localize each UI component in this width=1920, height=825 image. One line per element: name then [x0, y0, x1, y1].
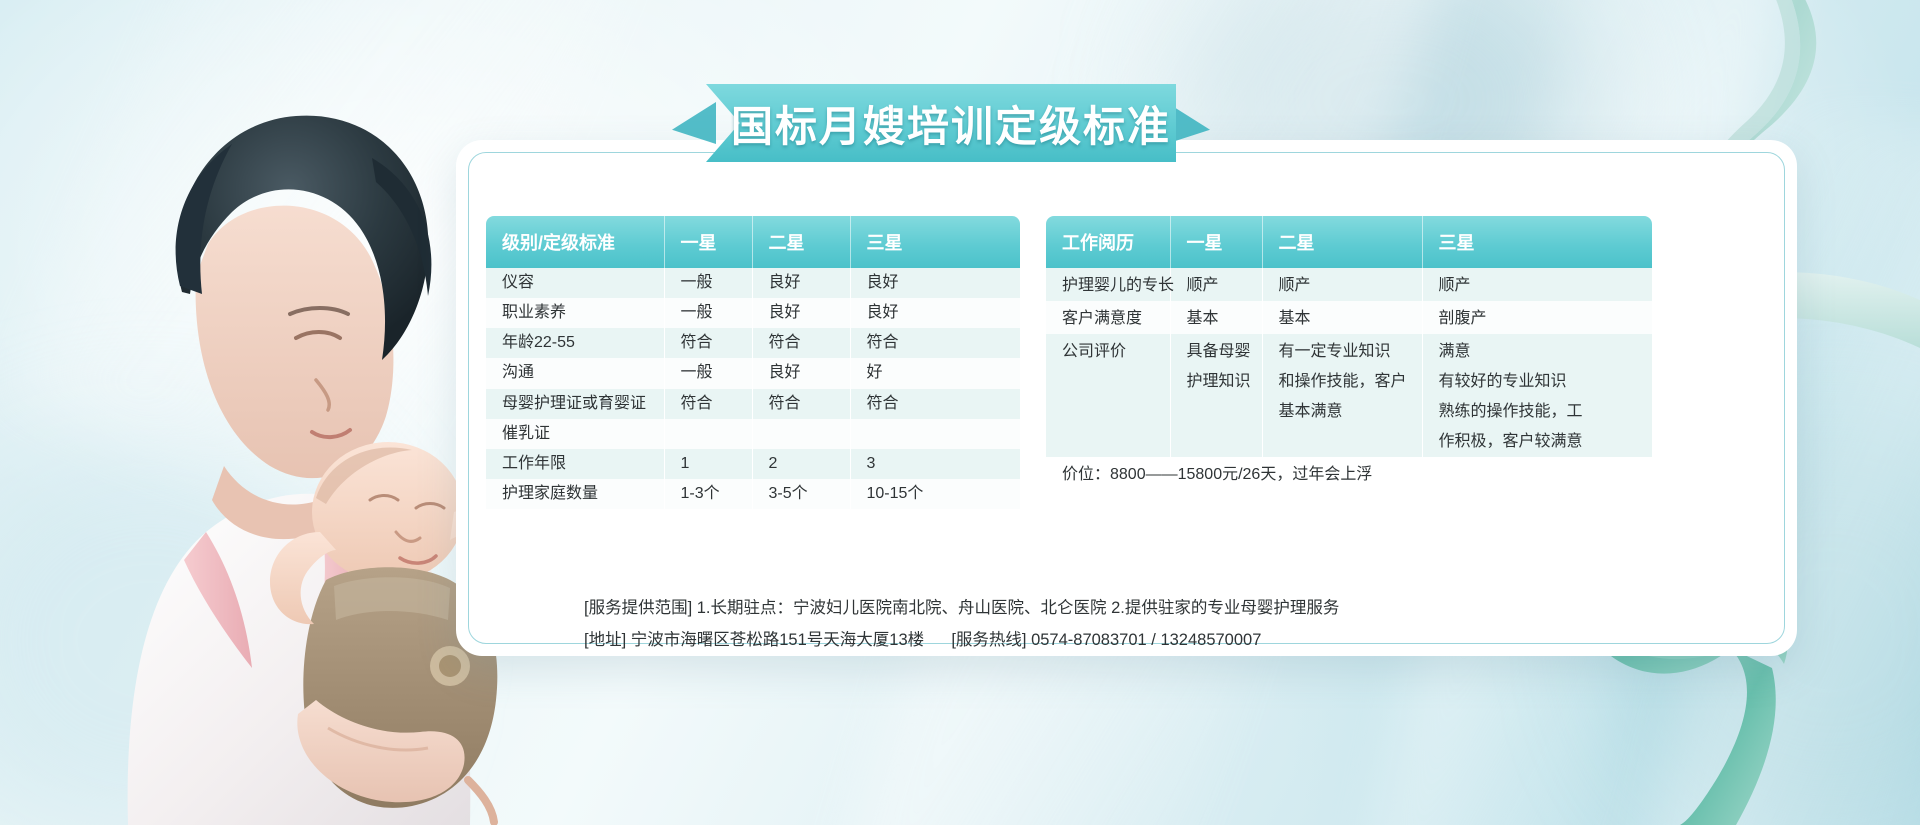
cell-three-star: 良好	[850, 268, 1020, 298]
price-note: 价位：8800——15800元/26天，过年会上浮	[1046, 457, 1652, 509]
cell-one-star: 顺产	[1170, 268, 1262, 301]
cell-two-star: 良好	[752, 268, 850, 298]
table-row: 沟通 一般 良好 好	[486, 358, 1020, 388]
hotline-text: [服务热线] 0574-87083701 / 13248570007	[951, 631, 1261, 649]
cell-experience: 护理婴儿的专长	[1046, 268, 1170, 301]
cell-three-star	[850, 419, 1020, 449]
cell-three-star: 满意 有较好的专业知识 熟练的操作技能，工 作积极，客户较满意	[1422, 334, 1652, 457]
grading-table-body: 仪容 一般 良好 良好 职业素养 一般 良好 良好 年龄22-55 符合 符合 …	[486, 268, 1020, 509]
table-row: 护理婴儿的专长 顺产 顺产 顺产	[1046, 268, 1652, 301]
cell-three-star: 符合	[850, 389, 1020, 419]
cell-one-star: 1-3个	[664, 479, 752, 509]
title-banner: 国标月嫂培训定级标准	[706, 84, 1176, 162]
cell-one-star: 基本	[1170, 301, 1262, 334]
table-header-row: 级别/定级标准 一星 二星 三星	[486, 216, 1020, 268]
cell-one-star: 一般	[664, 298, 752, 328]
table-row: 催乳证	[486, 419, 1020, 449]
service-scope-line: [服务提供范围] 1.长期驻点：宁波妇儿医院南北院、舟山医院、北仑医院 2.提供…	[584, 592, 1704, 624]
price-note-row: 价位：8800——15800元/26天，过年会上浮	[1046, 457, 1652, 509]
cell-two-star: 符合	[752, 389, 850, 419]
cell-three-star: 符合	[850, 328, 1020, 358]
cell-two-star: 顺产	[1262, 268, 1422, 301]
grading-table-head: 级别/定级标准 一星 二星 三星	[486, 216, 1020, 268]
cell-three-star: 10-15个	[850, 479, 1020, 509]
cell-experience: 公司评价	[1046, 334, 1170, 457]
cell-one-star: 一般	[664, 268, 752, 298]
cell-two-star: 有一定专业知识 和操作技能，客户 基本满意	[1262, 334, 1422, 457]
cell-criteria: 仪容	[486, 268, 664, 298]
cell-one-star: 1	[664, 449, 752, 479]
address-text: [地址] 宁波市海曙区苍松路151号天海大厦13楼	[584, 631, 924, 649]
table-row: 母婴护理证或育婴证 符合 符合 符合	[486, 389, 1020, 419]
experience-table-body: 护理婴儿的专长 顺产 顺产 顺产 客户满意度 基本 基本 剖腹产 公司评价 具备…	[1046, 268, 1652, 509]
cell-two-star: 良好	[752, 298, 850, 328]
cell-two-star: 3-5个	[752, 479, 850, 509]
address-hotline-line: [地址] 宁波市海曙区苍松路151号天海大厦13楼 [服务热线] 0574-87…	[584, 624, 1704, 656]
col-header-criteria: 级别/定级标准	[486, 216, 664, 268]
cell-one-star: 一般	[664, 358, 752, 388]
cell-criteria: 沟通	[486, 358, 664, 388]
grading-standard-table: 级别/定级标准 一星 二星 三星 仪容 一般 良好 良好 职业素养 一般 良好	[486, 216, 1020, 509]
table-row: 仪容 一般 良好 良好	[486, 268, 1020, 298]
col-header-three-star: 三星	[1422, 216, 1652, 268]
cell-one-star: 符合	[664, 328, 752, 358]
table-row: 工作年限 1 2 3	[486, 449, 1020, 479]
cell-two-star: 2	[752, 449, 850, 479]
cell-criteria: 催乳证	[486, 419, 664, 449]
col-header-two-star: 二星	[1262, 216, 1422, 268]
poster-stage: 国标月嫂培训定级标准 级别/定级标准 一星 二星 三星 仪容 一般 良好 良好	[0, 0, 1920, 825]
col-header-one-star: 一星	[664, 216, 752, 268]
footer-info: [服务提供范围] 1.长期驻点：宁波妇儿医院南北院、舟山医院、北仑医院 2.提供…	[584, 592, 1704, 656]
table-header-row: 工作阅历 一星 二星 三星	[1046, 216, 1652, 268]
table-row: 公司评价 具备母婴 护理知识 有一定专业知识 和操作技能，客户 基本满意 满意 …	[1046, 334, 1652, 457]
cell-three-star: 良好	[850, 298, 1020, 328]
banner-title: 国标月嫂培训定级标准	[706, 84, 1176, 162]
col-header-one-star: 一星	[1170, 216, 1262, 268]
cell-two-star: 符合	[752, 328, 850, 358]
table-row: 职业素养 一般 良好 良好	[486, 298, 1020, 328]
col-header-experience: 工作阅历	[1046, 216, 1170, 268]
cell-three-star: 剖腹产	[1422, 301, 1652, 334]
col-header-two-star: 二星	[752, 216, 850, 268]
cell-criteria: 母婴护理证或育婴证	[486, 389, 664, 419]
cell-one-star: 具备母婴 护理知识	[1170, 334, 1262, 457]
table-row: 年龄22-55 符合 符合 符合	[486, 328, 1020, 358]
table-row: 护理家庭数量 1-3个 3-5个 10-15个	[486, 479, 1020, 509]
cell-one-star: 符合	[664, 389, 752, 419]
cell-three-star: 3	[850, 449, 1020, 479]
cell-criteria: 护理家庭数量	[486, 479, 664, 509]
cell-two-star: 基本	[1262, 301, 1422, 334]
cell-criteria: 职业素养	[486, 298, 664, 328]
work-experience-table: 工作阅历 一星 二星 三星 护理婴儿的专长 顺产 顺产 顺产 客户满意度 基本 …	[1046, 216, 1652, 509]
experience-table-head: 工作阅历 一星 二星 三星	[1046, 216, 1652, 268]
cell-two-star: 良好	[752, 358, 850, 388]
cell-one-star	[664, 419, 752, 449]
cell-criteria: 年龄22-55	[486, 328, 664, 358]
cell-three-star: 顺产	[1422, 268, 1652, 301]
cell-two-star	[752, 419, 850, 449]
table-row: 客户满意度 基本 基本 剖腹产	[1046, 301, 1652, 334]
cell-three-star: 好	[850, 358, 1020, 388]
col-header-three-star: 三星	[850, 216, 1020, 268]
cell-criteria: 工作年限	[486, 449, 664, 479]
cell-experience: 客户满意度	[1046, 301, 1170, 334]
tables-area: 级别/定级标准 一星 二星 三星 仪容 一般 良好 良好 职业素养 一般 良好	[486, 216, 1768, 509]
